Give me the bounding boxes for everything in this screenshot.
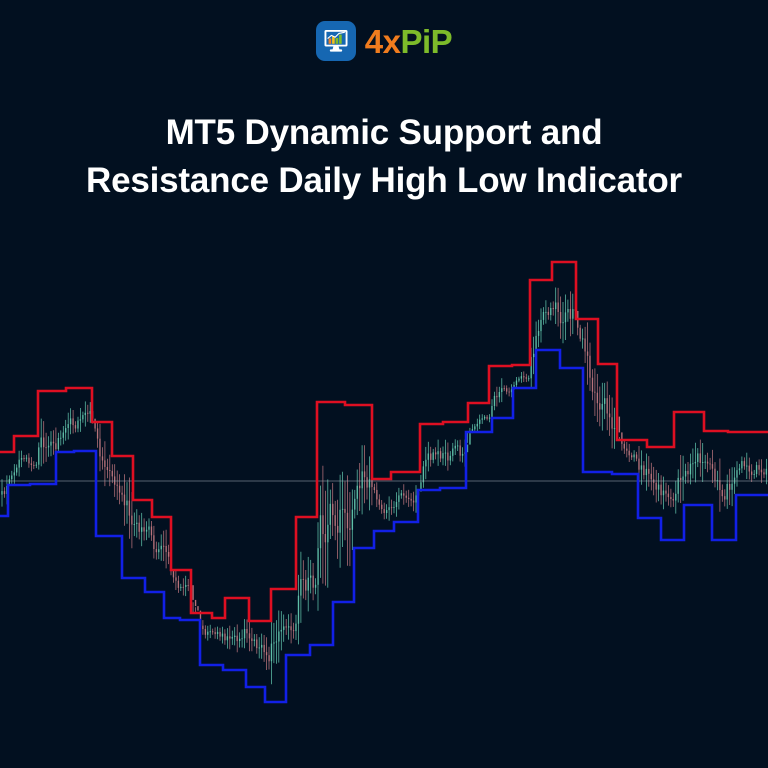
brand-logo: 4xPiP (0, 16, 768, 66)
resistance-step-line (0, 262, 768, 621)
brand-wordmark-pip: PiP (401, 23, 453, 60)
monitor-chart-icon (316, 21, 356, 61)
candlestick-series (1, 288, 767, 685)
page-title-line-1: MT5 Dynamic Support and (0, 109, 768, 157)
brand-wordmark: 4xPiP (365, 25, 452, 58)
promo-graphic: 4xPiP MT5 Dynamic Support and Resistance… (0, 0, 768, 768)
brand-wordmark-4x: 4x (365, 23, 401, 60)
candlestick-chart (0, 240, 768, 720)
chart-canvas (0, 240, 768, 720)
page-title: MT5 Dynamic Support and Resistance Daily… (0, 109, 768, 204)
page-title-line-2: Resistance Daily High Low Indicator (0, 157, 768, 205)
support-step-line (0, 350, 768, 702)
